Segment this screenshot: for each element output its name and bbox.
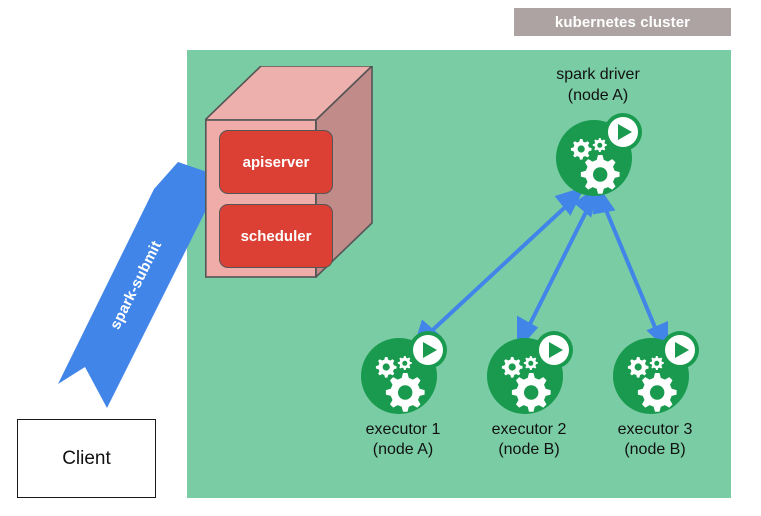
spark-driver-name: spark driver [552,64,644,85]
spark-driver-caption: spark driver (node A) [552,64,644,106]
executor-1-caption: executor 1 (node A) [366,420,441,460]
link-driver-executor-3 [595,189,666,346]
executor-1-node: (node A) [366,440,441,460]
executor-2-node-icon[interactable]: executor 2 (node B) [483,330,575,416]
executor-3-name: executor 3 [618,420,693,440]
executor-1-node-icon[interactable]: executor 1 (node A) [357,330,449,416]
gears-play-icon [483,330,575,416]
executor-2-name: executor 2 [492,420,567,440]
gears-play-icon [552,112,644,198]
gears-play-icon [357,330,449,416]
diagram-canvas: kubernetes cluster Client spark-submit a… [0,0,761,516]
executor-2-node: (node B) [492,440,567,460]
spark-driver-node: (node A) [552,85,644,106]
executor-3-node-icon[interactable]: executor 3 (node B) [609,330,701,416]
gears-play-icon [609,330,701,416]
executor-2-caption: executor 2 (node B) [492,420,567,460]
spark-driver-node-icon[interactable] [552,112,644,198]
executor-1-name: executor 1 [366,420,441,440]
executor-3-node: (node B) [618,440,693,460]
executor-3-caption: executor 3 (node B) [618,420,693,460]
